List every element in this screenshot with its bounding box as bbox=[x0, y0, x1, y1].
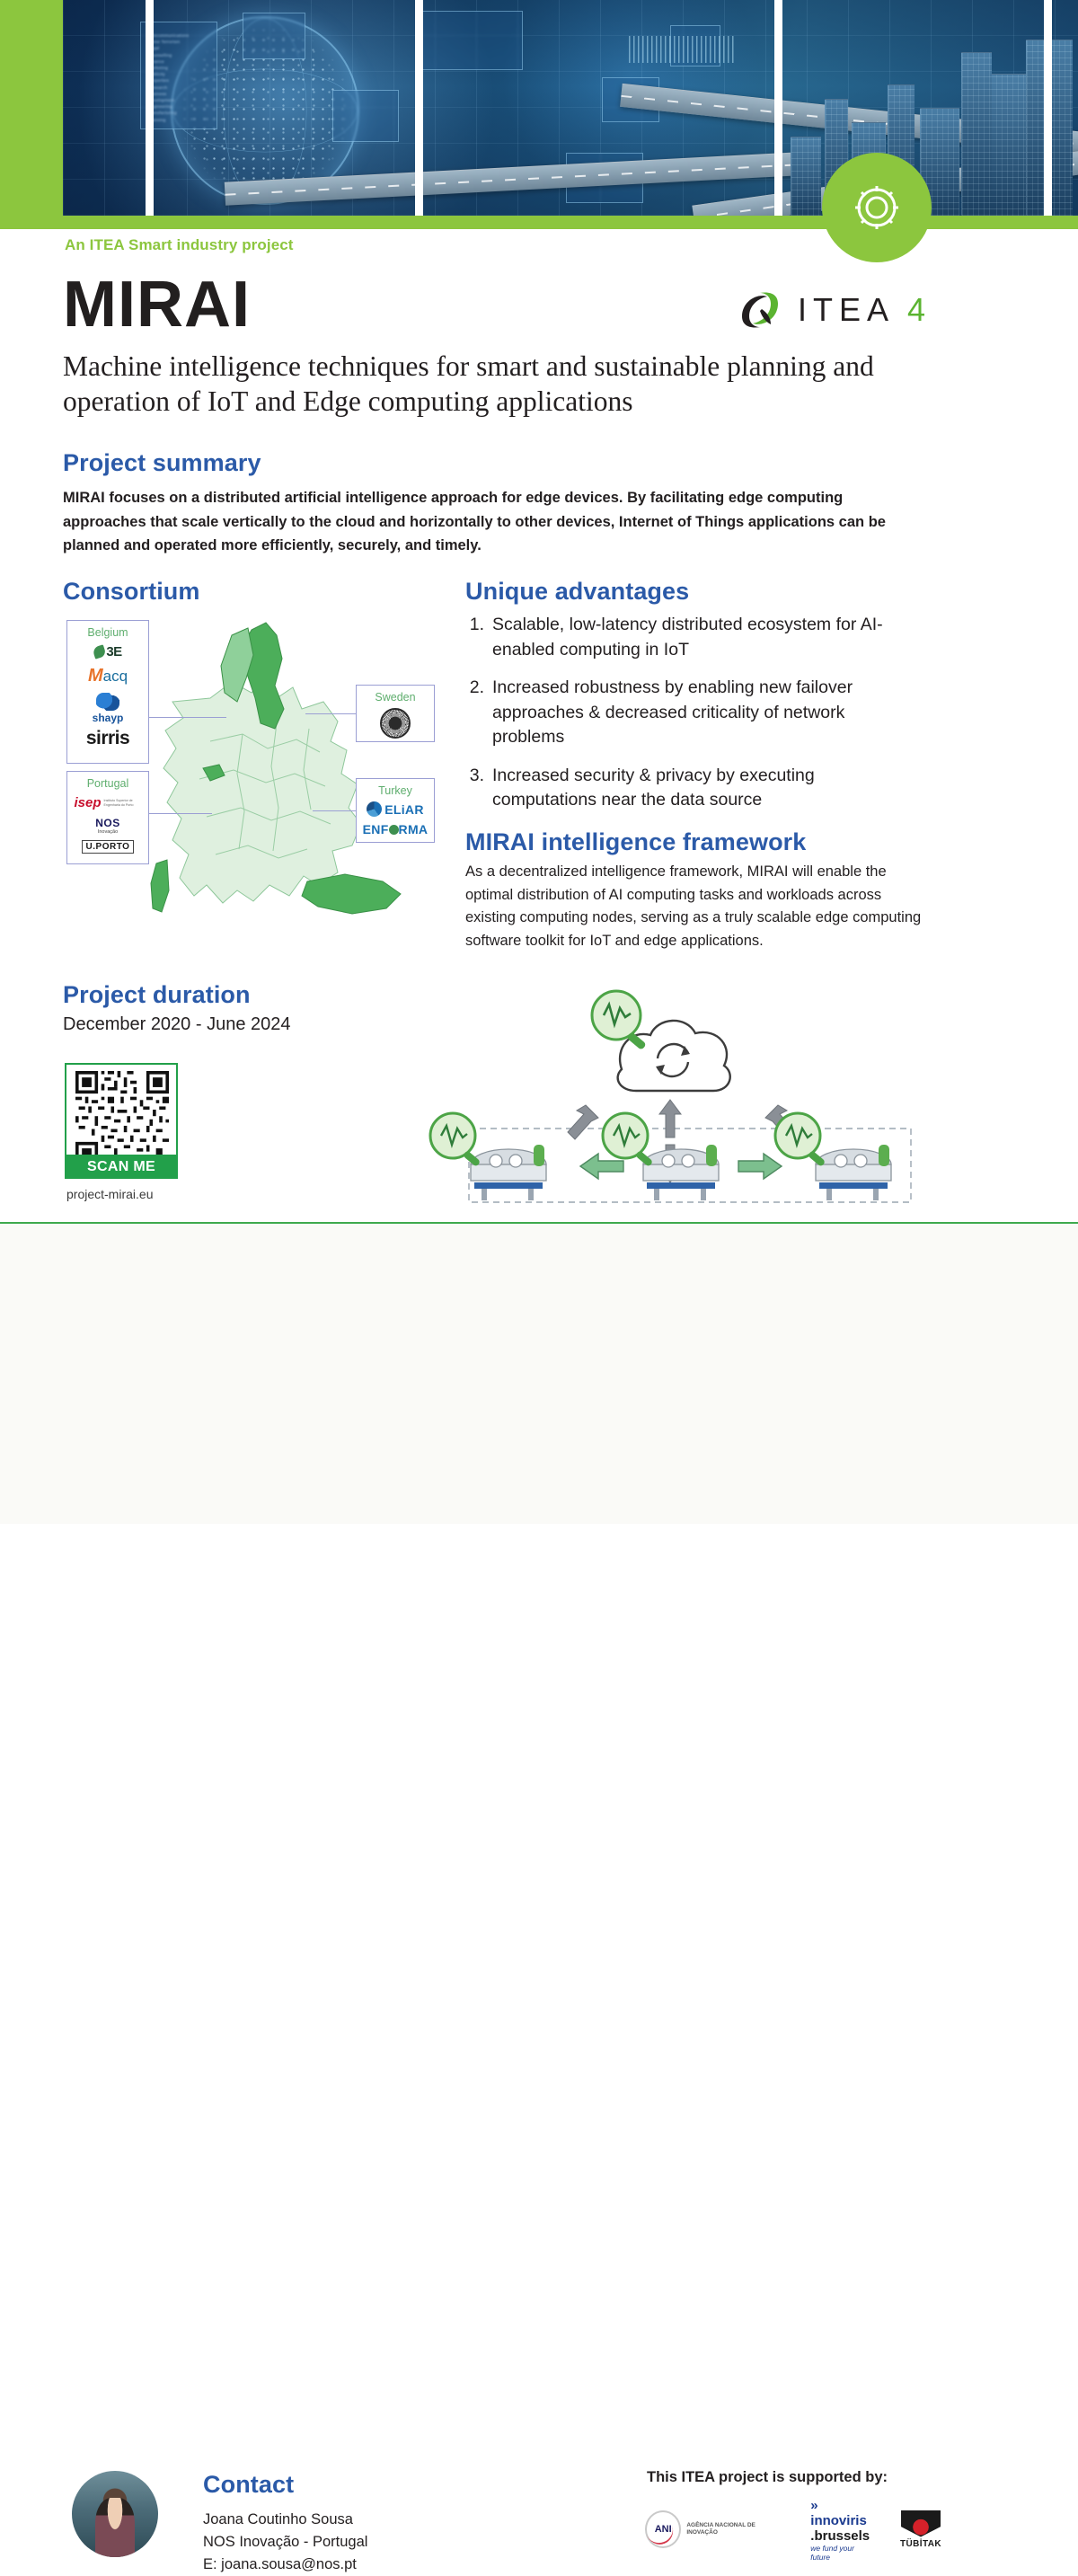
itea-version: 4 bbox=[907, 291, 925, 329]
page-title: MIRAI bbox=[63, 270, 251, 340]
partner-label: 3E bbox=[106, 644, 121, 659]
hero-banner: Telecommunications Home Terrorism Legal … bbox=[0, 0, 1078, 229]
partner-logo-enforma: ENFRMA bbox=[363, 822, 429, 837]
hud-panel bbox=[332, 90, 399, 142]
section-heading-project-summary: Project summary bbox=[63, 449, 261, 477]
chevron-right-icon: » bbox=[810, 2498, 815, 2513]
section-heading-contact: Contact bbox=[203, 2471, 294, 2499]
gear-icon bbox=[847, 178, 906, 237]
industrial-machine-icon bbox=[816, 1145, 891, 1200]
consortium-box-turkey: Turkey ELiAR ENFRMA bbox=[356, 778, 435, 843]
macq-initial: M bbox=[88, 666, 103, 686]
project-summary-text: MIRAI focuses on a distributed artificia… bbox=[63, 486, 918, 558]
list-item: 3. Increased security & privacy by execu… bbox=[465, 764, 919, 813]
country-name: Belgium bbox=[87, 626, 128, 639]
divider bbox=[146, 0, 154, 216]
magnifier-waveform-icon bbox=[430, 1113, 481, 1167]
sponsor-subtitle: AGÊNCIA NACIONAL DE INOVAÇÃO bbox=[686, 2522, 783, 2536]
university-seal-icon bbox=[380, 708, 411, 739]
hud-panel bbox=[415, 11, 523, 70]
connector-line bbox=[149, 813, 212, 814]
sponsor-logo-ani: ANI AGÊNCIA NACIONAL DE INOVAÇÃO bbox=[645, 2510, 783, 2548]
sponsor-name: ANI bbox=[655, 2524, 672, 2535]
advantages-list: 1. Scalable, low-latency distributed eco… bbox=[465, 613, 919, 827]
list-number: 2. bbox=[465, 676, 484, 750]
project-url[interactable]: project-mirai.eu bbox=[66, 1187, 153, 1201]
partner-logo-uporto: U.PORTO bbox=[82, 840, 135, 854]
connector-line bbox=[305, 713, 358, 714]
qr-matrix bbox=[73, 1071, 172, 1164]
country-name: Sweden bbox=[375, 691, 415, 704]
shayp-mark-icon bbox=[96, 693, 119, 711]
partner-logo-isep: isep Instituto Superior de Engenharia do… bbox=[74, 795, 141, 810]
country-name: Portugal bbox=[87, 777, 129, 790]
leaf-icon bbox=[93, 644, 107, 659]
sponsor-logos: ANI AGÊNCIA NACIONAL DE INOVAÇÃO » innov… bbox=[645, 2498, 941, 2561]
partner-logo-nos: NOS Inovação bbox=[95, 817, 120, 835]
partner-label: acq bbox=[103, 668, 128, 685]
eliar-mark-icon bbox=[367, 801, 382, 817]
industrial-machine-icon bbox=[643, 1145, 719, 1200]
poster-page: Telecommunications Home Terrorism Legal … bbox=[0, 0, 1078, 1524]
itea-loop-icon bbox=[735, 288, 785, 332]
framework-diagram bbox=[422, 961, 934, 1222]
list-number: 3. bbox=[465, 764, 484, 813]
partner-sublabel: Inovação bbox=[95, 829, 120, 835]
connector-line bbox=[149, 717, 226, 718]
partner-logo-macq: Macq bbox=[88, 666, 128, 686]
tubitak-mark-icon bbox=[901, 2510, 941, 2537]
section-heading-mirai-framework: MIRAI intelligence framework bbox=[465, 828, 806, 856]
connector-line bbox=[313, 810, 358, 811]
sponsor-tagline: we fund your future bbox=[810, 2544, 873, 2562]
avatar bbox=[72, 2471, 158, 2557]
partner-label-2: RMA bbox=[399, 822, 429, 837]
globe-icon bbox=[389, 825, 399, 835]
divider bbox=[774, 0, 782, 216]
magnifier-waveform-icon bbox=[592, 991, 647, 1050]
consortium-box-portugal: Portugal isep Instituto Superior de Enge… bbox=[66, 771, 149, 864]
itea-logo: ITEA 4 bbox=[735, 286, 938, 334]
eyebrow-text: An ITEA Smart industry project bbox=[65, 236, 294, 254]
ani-mark-icon: ANI bbox=[645, 2510, 681, 2548]
list-number: 1. bbox=[465, 613, 484, 662]
contact-name: Joana Coutinho Sousa bbox=[203, 2509, 367, 2531]
consortium-box-belgium: Belgium 3E Macq shayp sirris bbox=[66, 620, 149, 764]
divider bbox=[415, 0, 423, 216]
section-heading-unique-advantages: Unique advantages bbox=[465, 578, 689, 606]
magnifier-waveform-icon bbox=[775, 1113, 826, 1167]
contact-details: Joana Coutinho Sousa NOS Inovação - Port… bbox=[203, 2509, 367, 2576]
itea-wordmark: ITEA bbox=[798, 291, 895, 329]
framework-text: As a decentralized intelligence framewor… bbox=[465, 861, 922, 952]
map-country-portugal bbox=[151, 860, 169, 912]
map-country-turkey bbox=[302, 874, 401, 914]
scan-me-badge: SCAN ME bbox=[65, 1155, 178, 1179]
partner-logo-shayp: shayp bbox=[93, 712, 124, 724]
divider bbox=[1044, 0, 1052, 216]
isep-subtitle: Instituto Superior de Engenharia do Port… bbox=[104, 799, 142, 807]
partner-label: ENF bbox=[363, 822, 389, 837]
partner-label: isep bbox=[74, 795, 101, 810]
sponsor-logo-innoviris: » innoviris .brussels we fund your futur… bbox=[810, 2498, 873, 2562]
partner-logo-3e: 3E bbox=[93, 644, 121, 659]
country-name: Turkey bbox=[378, 784, 412, 797]
list-item: 1. Scalable, low-latency distributed eco… bbox=[465, 613, 919, 662]
list-text: Scalable, low-latency distributed ecosys… bbox=[492, 613, 919, 662]
section-heading-project-duration: Project duration bbox=[63, 981, 251, 1009]
partner-label: NOS bbox=[95, 817, 120, 829]
project-duration-value: December 2020 - June 2024 bbox=[63, 1014, 291, 1035]
partner-logo-sirris: sirris bbox=[86, 728, 129, 749]
magnifier-waveform-icon bbox=[603, 1113, 653, 1167]
sponsor-name-2: .brussels bbox=[810, 2528, 873, 2544]
page-subtitle: Machine intelligence techniques for smar… bbox=[63, 349, 943, 419]
list-item: 2. Increased robustness by enabling new … bbox=[465, 676, 919, 750]
consortium-box-sweden: Sweden bbox=[356, 685, 435, 742]
contact-email[interactable]: E: joana.sousa@nos.pt bbox=[203, 2554, 367, 2576]
partner-label: ELiAR bbox=[384, 802, 424, 817]
section-heading-consortium: Consortium bbox=[63, 578, 200, 606]
list-text: Increased security & privacy by executin… bbox=[492, 764, 919, 813]
gear-badge bbox=[822, 153, 932, 262]
sponsor-name: TÜBİTAK bbox=[900, 2539, 941, 2549]
partner-logo-eliar: ELiAR bbox=[367, 801, 424, 817]
industrial-machine-icon bbox=[471, 1145, 546, 1200]
list-text: Increased robustness by enabling new fai… bbox=[492, 676, 919, 750]
contact-org: NOS Inovação - Portugal bbox=[203, 2531, 367, 2554]
sponsor-logo-tubitak: TÜBİTAK bbox=[900, 2510, 941, 2549]
sponsor-name: » innoviris bbox=[810, 2498, 873, 2528]
support-label: This ITEA project is supported by: bbox=[647, 2469, 888, 2486]
footer: Contact Joana Coutinho Sousa NOS Inovaçã… bbox=[0, 1224, 1078, 1524]
hud-panel bbox=[243, 13, 305, 59]
